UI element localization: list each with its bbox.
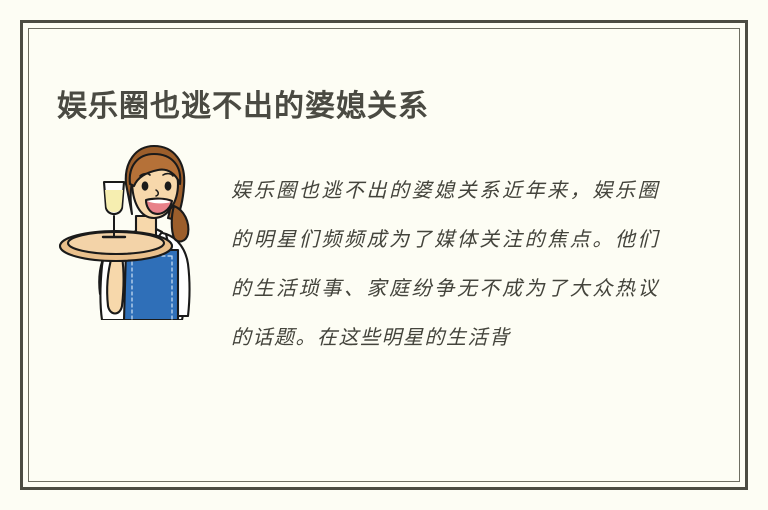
article-card: 娱乐圈也逃不出的婆媳关系 [0, 0, 768, 510]
left-eye [142, 181, 149, 190]
article-body-text: 娱乐圈也逃不出的婆媳关系近年来，娱乐圈的明星们频频成为了媒体关注的焦点。他们的生… [231, 166, 659, 362]
right-eye [165, 181, 172, 190]
wine-liquid [105, 190, 123, 212]
page-title: 娱乐圈也逃不出的婆媳关系 [57, 88, 429, 126]
waitress-illustration [50, 138, 206, 320]
ponytail [172, 206, 189, 241]
tray-surface [68, 232, 164, 254]
forearm-lower [107, 256, 123, 314]
